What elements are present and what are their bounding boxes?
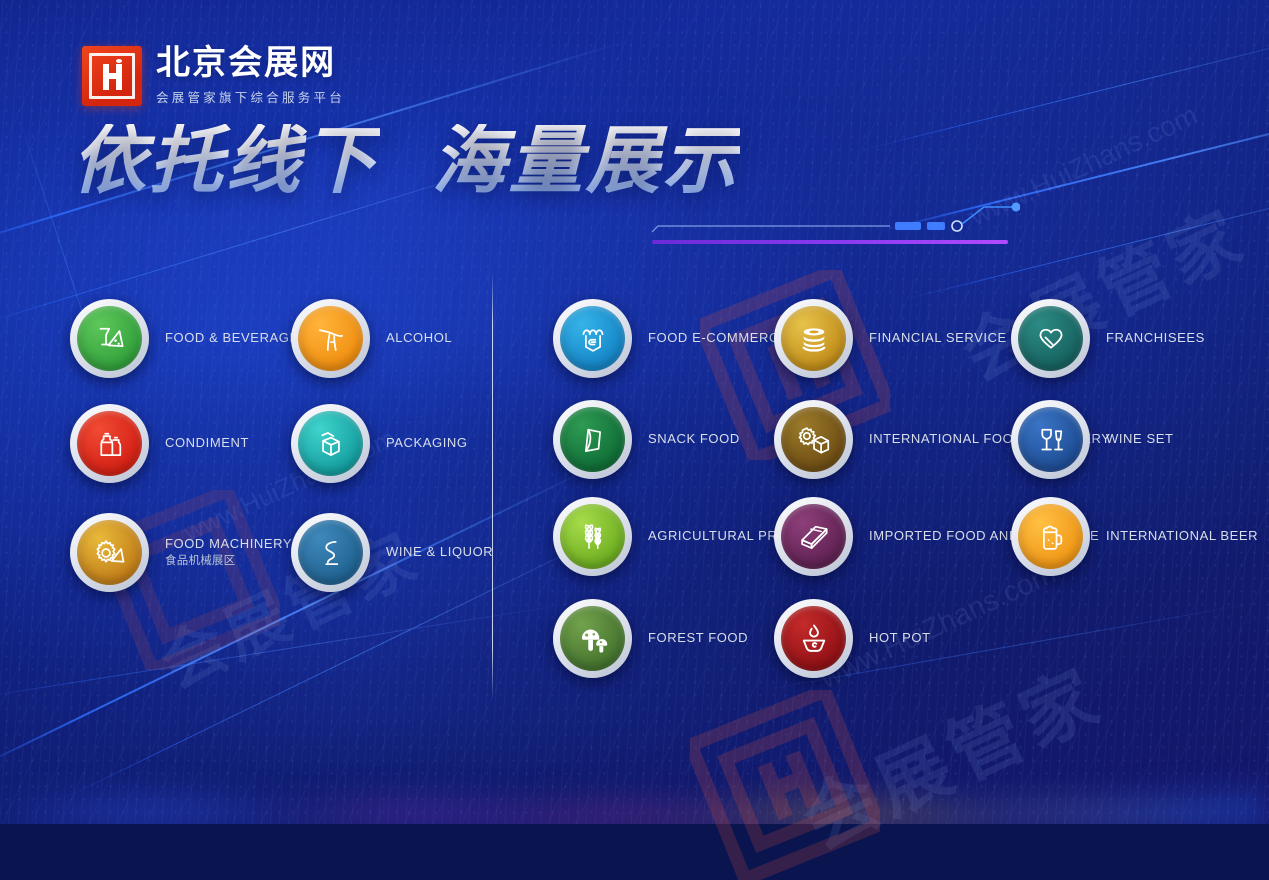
coin-stack-icon: [781, 306, 846, 371]
badge: [553, 497, 632, 576]
category-item-food-beverage[interactable]: FOOD & BEVERAGE: [70, 299, 299, 378]
badge: [291, 513, 370, 592]
badge: [774, 400, 853, 479]
category-label: INTERNATIONAL BEER: [1106, 528, 1258, 545]
category-label: CONDIMENT: [165, 435, 249, 452]
badge: [1011, 299, 1090, 378]
category-item-international-beer[interactable]: INTERNATIONAL BEER: [1011, 497, 1258, 576]
category-item-wine-liquor[interactable]: WINE & LIQUOR: [291, 513, 493, 592]
category-item-financial-service[interactable]: FINANCIAL SERVICE: [774, 299, 1007, 378]
badge: [70, 404, 149, 483]
category-label: FOOD & BEVERAGE: [165, 330, 299, 347]
category-item-food-ecommerce[interactable]: FOOD E-COMMERCE: [553, 299, 788, 378]
online-shop-e-icon: [560, 306, 625, 371]
category-label: WINE & LIQUOR: [386, 544, 493, 561]
category-item-food-machinery[interactable]: FOOD MACHINERY 食品机械展区: [70, 513, 292, 592]
category-label: HOT POT: [869, 630, 931, 647]
badge: [553, 400, 632, 479]
badge: [70, 513, 149, 592]
badge: [553, 299, 632, 378]
category-label: SNACK FOOD: [648, 431, 740, 448]
category-label: FINANCIAL SERVICE: [869, 330, 1007, 347]
seasoning-bottles-icon: [77, 411, 142, 476]
category-item-condiment[interactable]: CONDIMENT: [70, 404, 249, 483]
category-label: PACKAGING: [386, 435, 468, 452]
category-item-wine-set[interactable]: WINE SET: [1011, 400, 1174, 479]
badge: [1011, 400, 1090, 479]
category-grid: FOOD & BEVERAGE CONDIMENT FOOD MACHINERY…: [0, 0, 1269, 824]
hot-pot-flame-icon: [781, 606, 846, 671]
category-label: WINE SET: [1106, 431, 1174, 448]
category-label: FOOD MACHINERY 食品机械展区: [165, 536, 292, 569]
wine-glass-icon: [298, 520, 363, 585]
badge: [291, 299, 370, 378]
pouring-bottle-icon: [298, 306, 363, 371]
badge: [70, 299, 149, 378]
wheat-ears-icon: [560, 504, 625, 569]
glass-and-pizza-icon: [77, 306, 142, 371]
category-item-snack-food[interactable]: SNACK FOOD: [553, 400, 740, 479]
badge: [774, 599, 853, 678]
category-item-franchisees[interactable]: FRANCHISEES: [1011, 299, 1205, 378]
parcel-box-icon: [781, 504, 846, 569]
open-box-icon: [298, 411, 363, 476]
gear-and-pizza-icon: [77, 520, 142, 585]
category-item-forest-food[interactable]: FOREST FOOD: [553, 599, 748, 678]
handshake-heart-icon: [1018, 306, 1083, 371]
badge: [291, 404, 370, 483]
badge: [553, 599, 632, 678]
category-item-alcohol[interactable]: ALCOHOL: [291, 299, 452, 378]
gear-and-box-icon: [781, 407, 846, 472]
category-label: ALCOHOL: [386, 330, 452, 347]
badge: [774, 497, 853, 576]
badge: [774, 299, 853, 378]
beer-mug-icon: [1018, 504, 1083, 569]
category-label: FOREST FOOD: [648, 630, 748, 647]
category-label: FRANCHISEES: [1106, 330, 1205, 347]
category-item-packaging[interactable]: PACKAGING: [291, 404, 468, 483]
category-sublabel: 食品机械展区: [165, 554, 292, 569]
two-glasses-icon: [1018, 407, 1083, 472]
category-item-hot-pot[interactable]: HOT POT: [774, 599, 931, 678]
mushrooms-icon: [560, 606, 625, 671]
category-label: FOOD E-COMMERCE: [648, 330, 788, 347]
badge: [1011, 497, 1090, 576]
snack-bag-icon: [560, 407, 625, 472]
